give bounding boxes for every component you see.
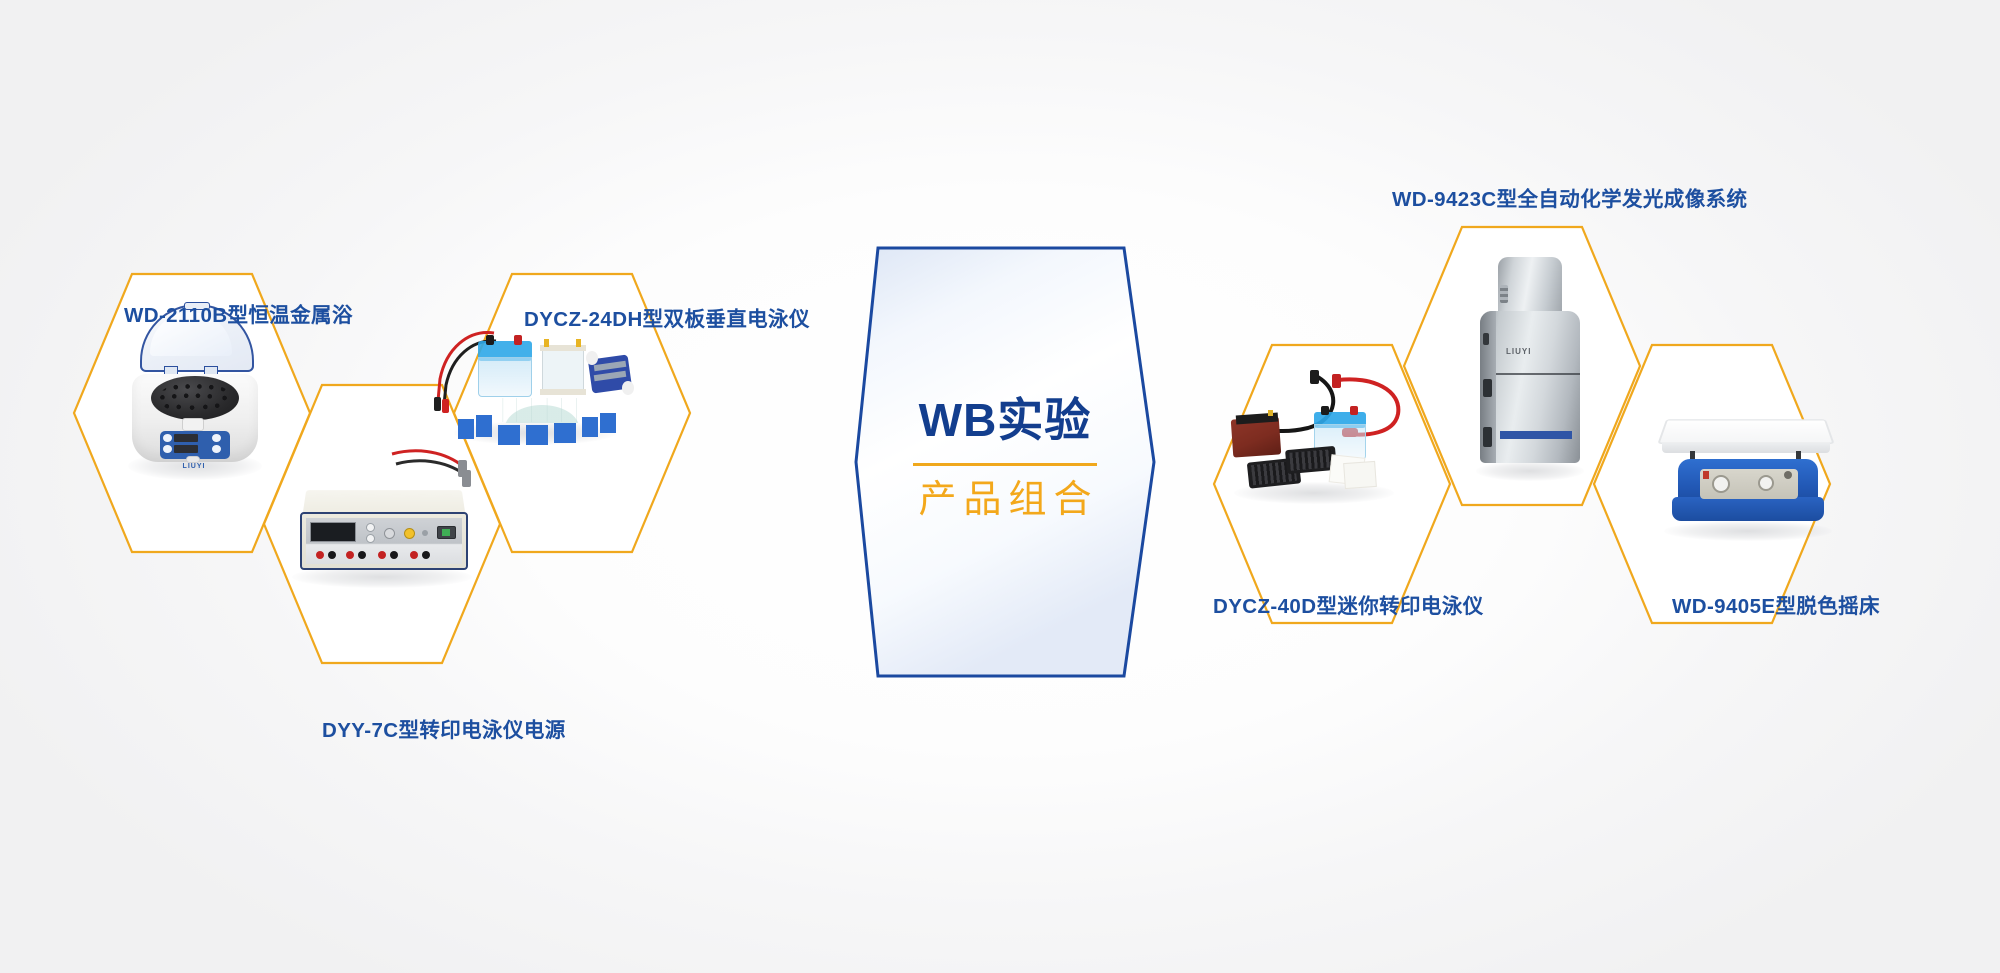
- product-label-wd-9405e: WD-9405E型脱色摇床: [1672, 597, 1880, 618]
- product-label-wd-2110b: WD-2110B型恒温金属浴: [124, 306, 353, 327]
- center-subtitle: 产品组合: [880, 480, 1130, 522]
- product-label-wd-9423c: WD-9423C型全自动化学发光成像系统: [1392, 190, 1747, 211]
- poster-canvas: WB实验 产品组合 LIUYI: [0, 0, 2000, 973]
- product-image-wd-9423c: LIUYI: [1470, 255, 1590, 485]
- product-image-wd-2110b: LIUYI: [120, 300, 270, 490]
- product-label-dycz-24dh: DYCZ-24DH型双板垂直电泳仪: [524, 310, 810, 331]
- product-label-dyy-7c: DYY-7C型转印电泳仪电源: [322, 721, 566, 742]
- product-label-dycz-40d: DYCZ-40D型迷你转印电泳仪: [1213, 597, 1484, 618]
- product-image-dycz-40d: [1218, 360, 1408, 510]
- center-title: WB实验: [880, 395, 1130, 446]
- brand-mark-imager: LIUYI: [1506, 347, 1550, 359]
- center-divider: [913, 463, 1097, 466]
- brand-mark: LIUYI: [172, 463, 216, 472]
- product-image-dyy-7c: [282, 450, 482, 595]
- product-image-wd-9405e: [1648, 405, 1848, 545]
- center-hex-text: WB实验 产品组合: [880, 395, 1130, 521]
